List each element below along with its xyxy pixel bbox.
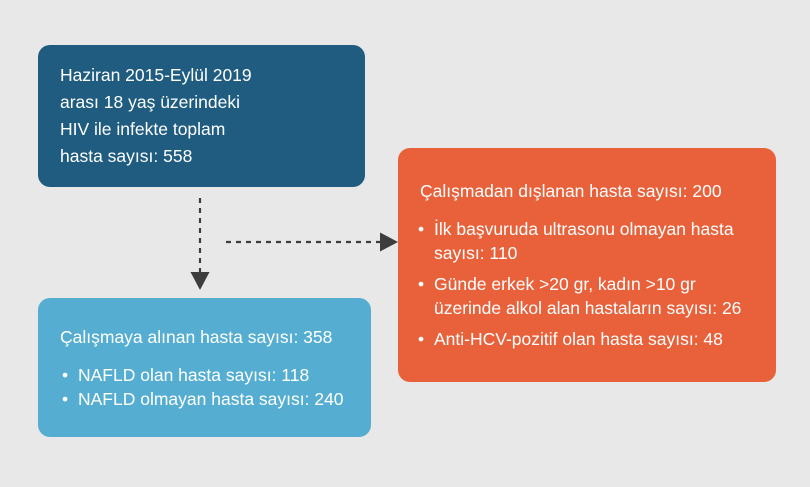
list-item: Anti-HCV-pozitif olan hasta sayısı: 48 bbox=[412, 327, 758, 351]
list-item: NAFLD olmayan hasta sayısı: 240 bbox=[60, 387, 349, 411]
excluded-heading: Çalışmadan dışlanan hasta sayısı: 200 bbox=[420, 179, 758, 203]
source-line-3: HIV ile infekte toplam bbox=[60, 116, 343, 143]
list-item: İlk başvuruda ultrasonu olmayan hasta sa… bbox=[412, 217, 758, 265]
arrow-down-head bbox=[191, 272, 210, 290]
flowchart-canvas: Haziran 2015-Eylül 2019 arası 18 yaş üze… bbox=[0, 0, 810, 487]
excluded-bullet-list: İlk başvuruda ultrasonu olmayan hasta sa… bbox=[412, 217, 758, 351]
excluded-patients-box: Çalışmadan dışlanan hasta sayısı: 200 İl… bbox=[398, 148, 776, 382]
list-item: NAFLD olan hasta sayısı: 118 bbox=[60, 363, 349, 387]
arrow-right-icon bbox=[226, 228, 404, 256]
source-population-box: Haziran 2015-Eylül 2019 arası 18 yaş üze… bbox=[38, 45, 365, 187]
list-item: Günde erkek >20 gr, kadın >10 gr üzerind… bbox=[412, 272, 758, 320]
arrow-right-head bbox=[380, 233, 398, 252]
included-patients-box: Çalışmaya alınan hasta sayısı: 358 NAFLD… bbox=[38, 298, 371, 437]
included-heading: Çalışmaya alınan hasta sayısı: 358 bbox=[60, 325, 349, 349]
included-bullet-list: NAFLD olan hasta sayısı: 118 NAFLD olmay… bbox=[60, 363, 349, 411]
source-line-2: arası 18 yaş üzerindeki bbox=[60, 89, 343, 116]
source-line-4: hasta sayısı: 558 bbox=[60, 143, 343, 170]
source-line-1: Haziran 2015-Eylül 2019 bbox=[60, 62, 343, 89]
arrow-down-icon bbox=[186, 198, 214, 294]
